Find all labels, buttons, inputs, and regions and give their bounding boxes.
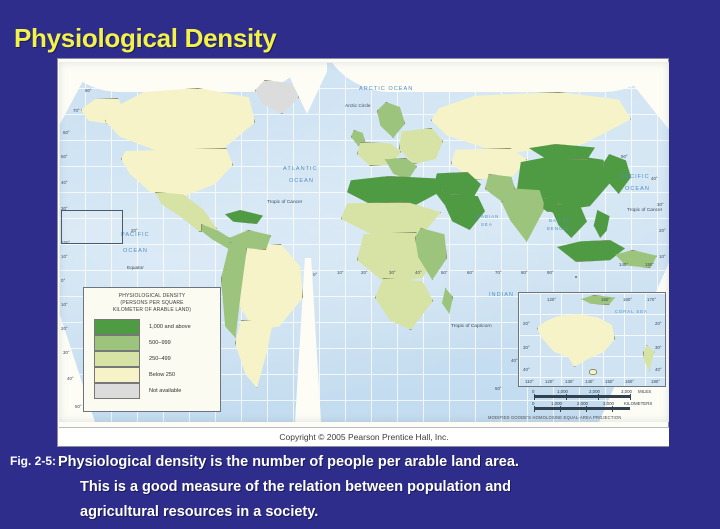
scale-tick	[566, 394, 567, 400]
inset-lon-top-1: 150°	[601, 297, 610, 302]
ocean-label-arabian-sea-1: ARABIAN	[473, 214, 499, 219]
pacific-inset-box	[61, 210, 123, 244]
coord-left-3: 50°	[61, 154, 68, 159]
coord-lon-8: 80°	[521, 270, 528, 275]
legend-title-line-1: PHYSIOLOGICAL DENSITY	[88, 293, 216, 300]
inset-lon-bot-4: 150°	[605, 379, 614, 384]
scale-label-km-1: 1,000	[551, 401, 562, 406]
coord-lon-2: 20°	[361, 270, 368, 275]
inset-lon-bot-1: 120°	[545, 379, 554, 384]
coord-left-9: 0°	[61, 278, 65, 283]
caption-text: Physiological density is the number of p…	[58, 450, 713, 525]
inset-lon-bot-5: 160°	[625, 379, 634, 384]
coord-left-6: 20°	[131, 228, 138, 233]
ocean-label-arctic: ARCTIC OCEAN	[359, 86, 413, 92]
legend-row: Below 250	[94, 367, 216, 383]
region-tasmania	[589, 369, 597, 375]
scale-label-miles-2: 2,000	[589, 389, 600, 394]
ocean-label-atlantic-2: OCEAN	[289, 178, 314, 184]
coord-lon-6: 60°	[467, 270, 474, 275]
scale-tick	[586, 406, 587, 412]
coord-lon-3: 30°	[389, 270, 396, 275]
coord-lon-9: 90°	[547, 270, 554, 275]
ocean-label-atlantic-1: ATLANTIC	[283, 166, 318, 172]
coord-left-2: 60°	[63, 130, 70, 135]
projection-note: MODIFIED GOODE'S HOMOLOSINE EQUAL-AREA P…	[488, 415, 621, 420]
coord-lon-5: 50°	[441, 270, 448, 275]
legend-row: 1,000 and above	[94, 319, 216, 335]
inset-scale-bars: 0 1,000 2,000 3,000 MILES 0 1,000 2,000 …	[528, 390, 660, 412]
label-tropic-capricorn: Tropic of Capricorn	[451, 324, 492, 329]
region-new-zealand	[643, 345, 655, 371]
scale-label-km-0: 0	[532, 401, 534, 406]
legend-row: 250–499	[94, 351, 216, 367]
copyright-notice: Copyright © 2005 Pearson Prentice Hall, …	[59, 427, 669, 446]
coord-right-2: 30°	[657, 202, 664, 207]
scale-bar-miles	[534, 395, 630, 398]
coord-left-11: 20°	[61, 326, 68, 331]
region-australia-mainmap	[575, 276, 577, 278]
inset-lat-left-1: 30°	[523, 345, 530, 350]
scale-tick	[534, 406, 535, 412]
coord-left-10: 10°	[61, 302, 68, 307]
inset-lon-bot-2: 130°	[565, 379, 574, 384]
inset-lat-left-2: 40°	[523, 367, 530, 372]
coord-lon-0: 0°	[313, 272, 317, 277]
coord-left-12: 30°	[63, 350, 70, 355]
coord-right-0: 50°	[621, 154, 628, 159]
figure-card: ARCTIC OCEAN ATLANTIC OCEAN PACIFIC OCEA…	[57, 58, 669, 447]
label-tropic-cancer-east: Tropic of Cancer	[627, 208, 662, 213]
coord-lon-right-1: 150°	[645, 262, 654, 267]
coord-right-3: 20°	[659, 228, 666, 233]
legend-row: 500–999	[94, 335, 216, 351]
inset-lon-top-3: 170°	[647, 297, 656, 302]
ocean-label-pacific-east-2: OCEAN	[625, 186, 650, 192]
legend-title-line-2: (PERSONS PER SQUARE	[88, 300, 216, 307]
inset-lat-left-0: 20°	[523, 321, 530, 326]
inset-lat-right-2: 40°	[655, 367, 662, 372]
label-equator: Equator	[127, 266, 144, 271]
scale-label-miles-0: 0	[532, 389, 534, 394]
scale-tick	[534, 394, 535, 400]
legend-row: Not available	[94, 383, 216, 399]
coord-lon-7: 70°	[495, 270, 502, 275]
legend-swatch	[94, 367, 140, 383]
scale-label-miles-3: 3,000	[621, 389, 632, 394]
scale-row-km: 0 1,000 2,000 3,000 KILOMETERS	[528, 402, 660, 412]
inset-lon-bot-3: 140°	[585, 379, 594, 384]
inset-lon-bot-6: 180°	[651, 379, 660, 384]
scale-unit-miles: MILES	[638, 389, 651, 394]
caption-line-1: Physiological density is the number of p…	[58, 450, 713, 475]
scale-tick	[630, 394, 631, 400]
ocean-label-arabian-sea-2: SEA	[481, 222, 493, 227]
inset-lat-right-1: 30°	[655, 345, 662, 350]
map-legend: PHYSIOLOGICAL DENSITY (PERSONS PER SQUAR…	[83, 287, 221, 412]
coord-lon-right-0: 140°	[619, 262, 628, 267]
legend-label: Below 250	[149, 372, 175, 378]
coord-right-7: 50°	[495, 386, 502, 391]
legend-title-line-3: KILOMETER OF ARABLE LAND)	[88, 307, 216, 314]
legend-swatch	[94, 335, 140, 351]
coord-left-1: 70°	[73, 108, 80, 113]
coord-right-1: 40°	[651, 176, 658, 181]
coord-left-8: 10°	[61, 254, 68, 259]
coord-lon-1: 10°	[337, 270, 344, 275]
ocean-label-pacific-east-1: PACIFIC	[621, 174, 650, 180]
label-tropic-cancer-west: Tropic of Cancer	[267, 200, 302, 205]
legend-label: 250–499	[149, 356, 171, 362]
caption-line-3: agricultural resources in a society.	[58, 500, 713, 525]
coord-left-14: 50°	[75, 404, 82, 409]
inset-lon-top-2: 160°	[623, 297, 632, 302]
scale-row-miles: 0 1,000 2,000 3,000 MILES	[528, 390, 660, 400]
caption-line-2: This is a good measure of the relation b…	[58, 475, 713, 500]
ocean-label-indian-1: INDIAN	[489, 292, 514, 298]
inset-lon-bot-0: 110°	[525, 379, 534, 384]
scale-tick	[560, 406, 561, 412]
scale-label-km-3: 3,000	[603, 401, 614, 406]
scale-tick	[598, 394, 599, 400]
scale-tick	[612, 406, 613, 412]
legend-swatch	[94, 383, 140, 399]
coord-right-6: 40°	[511, 358, 518, 363]
ocean-label-bay-of-bengal-1: BAY OF	[549, 218, 571, 223]
region-australia	[537, 313, 615, 367]
legend-swatch	[94, 351, 140, 367]
legend-rows: 1,000 and above 500–999 250–499 Below 25…	[88, 319, 216, 399]
figure-number: Fig. 2-5:	[10, 454, 56, 468]
coord-left-4: 40°	[61, 180, 68, 185]
legend-swatch	[94, 319, 140, 335]
legend-label: 500–999	[149, 340, 171, 346]
australia-inset-map: CORAL SEA 120° 150° 160° 170° 20° 30° 40…	[518, 292, 666, 387]
scale-label-km-2: 2,000	[577, 401, 588, 406]
label-arctic-circle: Arctic Circle	[345, 104, 371, 109]
coord-left-13: 40°	[67, 376, 74, 381]
legend-label: Not available	[149, 388, 181, 394]
coord-lon-4: 40°	[415, 270, 422, 275]
page-title: Physiological Density	[14, 23, 276, 54]
scale-bar-km	[534, 407, 630, 410]
coord-right-4: 10°	[659, 254, 666, 259]
inset-label-coral-sea: CORAL SEA	[615, 309, 648, 314]
scale-unit-km: KILOMETERS	[624, 401, 652, 406]
coord-left-0: 80°	[85, 88, 92, 93]
ocean-label-bay-of-bengal-2: BENGAL	[547, 226, 571, 231]
ocean-label-pacific-west-2: OCEAN	[123, 248, 148, 254]
legend-label: 1,000 and above	[149, 324, 191, 330]
inset-lon-top-0: 120°	[547, 297, 556, 302]
scale-label-miles-1: 1,000	[557, 389, 568, 394]
inset-lat-right-0: 20°	[655, 321, 662, 326]
